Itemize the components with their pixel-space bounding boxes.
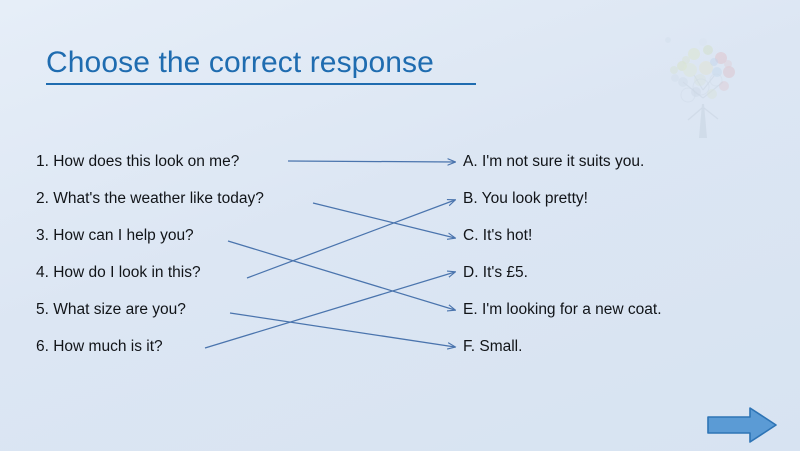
prompt-item-3[interactable]: 3. How can I help you?: [36, 224, 336, 261]
response-item-d[interactable]: D. It's £5.: [463, 261, 763, 298]
responses-column: A. I'm not sure it suits you. B. You loo…: [463, 150, 763, 372]
response-item-b[interactable]: B. You look pretty!: [463, 187, 763, 224]
response-item-a[interactable]: A. I'm not sure it suits you.: [463, 150, 763, 187]
prompt-item-1[interactable]: 1. How does this look on me?: [36, 150, 336, 187]
page-title: Choose the correct response: [46, 44, 516, 82]
next-slide-arrow-icon[interactable]: [706, 406, 778, 444]
response-item-f[interactable]: F. Small.: [463, 335, 763, 372]
decorative-tree-icon: [628, 20, 778, 140]
response-item-c[interactable]: C. It's hot!: [463, 224, 763, 261]
prompts-column: 1. How does this look on me? 2. What's t…: [36, 150, 336, 372]
response-item-e[interactable]: E. I'm looking for a new coat.: [463, 298, 763, 335]
title-block: Choose the correct response: [46, 44, 516, 85]
prompt-item-6[interactable]: 6. How much is it?: [36, 335, 336, 372]
title-underline: [46, 83, 476, 85]
prompt-item-5[interactable]: 5. What size are you?: [36, 298, 336, 335]
slide-canvas: Choose the correct response 1. How does …: [0, 0, 800, 451]
prompt-item-2[interactable]: 2. What's the weather like today?: [36, 187, 336, 224]
prompt-item-4[interactable]: 4. How do I look in this?: [36, 261, 336, 298]
